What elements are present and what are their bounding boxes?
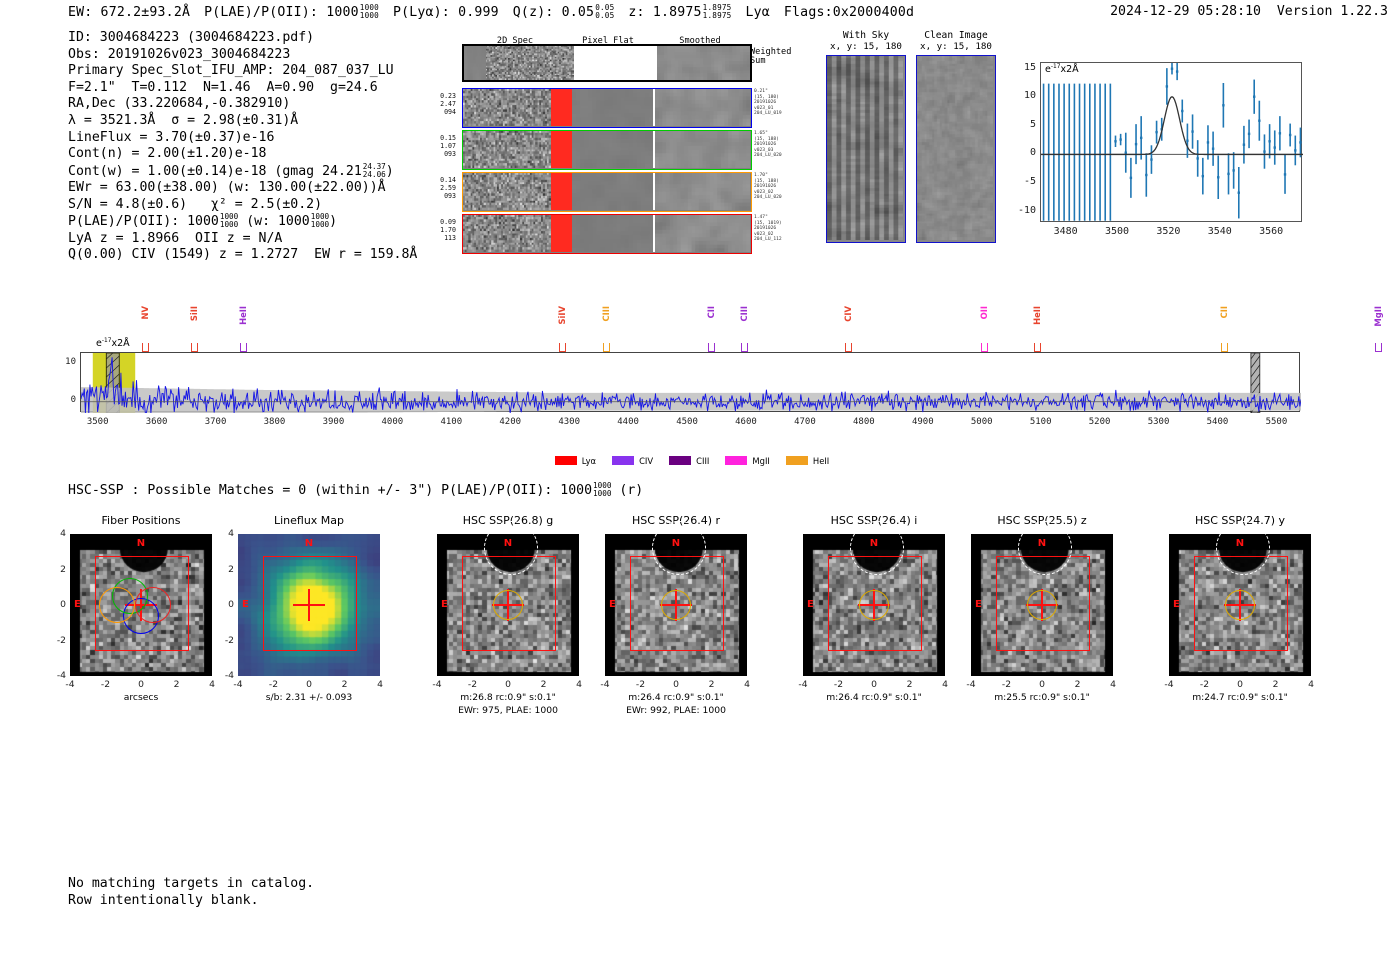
image-data	[463, 215, 551, 252]
x-tick: 4300	[547, 417, 591, 427]
x-tick: 3500	[76, 417, 120, 427]
legend-label: Lyα	[582, 456, 596, 466]
spec2d-row-meta: 1.47" (15, 1019) 20191026 v023_02 204_LU…	[754, 215, 782, 243]
thumb-x-tick: 2	[899, 679, 921, 690]
thumb-x-tick: -2	[95, 679, 117, 690]
y-tick: 0	[54, 395, 76, 405]
thumb-x-tick: 4	[1300, 679, 1322, 690]
x-tick: 3560	[1255, 226, 1287, 237]
image-data	[917, 56, 993, 240]
spec2d-row-meta: 0.21" (15, 180) 20191026 v023_01 204_LU_…	[754, 89, 782, 117]
header-redshift: z: 1.89751.89751.8975	[628, 5, 731, 20]
legend-item: Lyα	[555, 456, 596, 466]
legend-item: HeII	[786, 456, 829, 466]
spec2d-row-meta: 1.70" (15, 188) 20191026 v023_02 204_LU_…	[754, 173, 782, 201]
thumb-x-tick: 2	[166, 679, 188, 690]
x-tick: 3600	[135, 417, 179, 427]
emission-line-label: CII	[706, 306, 716, 318]
image-data	[486, 46, 574, 80]
x-tick: 4500	[665, 417, 709, 427]
thumb-x-tick: 0	[863, 679, 885, 690]
x-tick: 5500	[1254, 417, 1298, 427]
y-tick: 0	[1014, 147, 1036, 158]
legend-swatch	[725, 456, 747, 465]
legend-swatch	[669, 456, 691, 465]
thumb-y-tick: 4	[217, 528, 234, 539]
thumb-x-tick: 2	[533, 679, 555, 690]
thumb-x-tick: -4	[594, 679, 616, 690]
x-tick: 4100	[429, 417, 473, 427]
thumb-y-tick: 4	[49, 528, 66, 539]
x-tick: 3800	[252, 417, 296, 427]
spec2d-row	[462, 130, 752, 170]
x-tick: 5300	[1137, 417, 1181, 427]
emission-line-label: CII	[1219, 306, 1229, 318]
cutout-coords: x, y: 15, 180	[816, 41, 916, 52]
y-tick: -10	[1014, 205, 1036, 216]
image-data	[572, 173, 653, 210]
info-lineflux: LineFlux = 3.70(±0.37)e-16	[68, 130, 274, 145]
emission-line-tick	[1221, 343, 1228, 352]
image-data	[655, 173, 750, 210]
image-data	[463, 131, 551, 168]
info-radec: RA,Dec (33.220684,-0.382910)	[68, 96, 290, 111]
image-data	[655, 131, 750, 168]
fiber-circle	[99, 587, 135, 623]
image-data	[572, 131, 653, 168]
emission-line-tick	[1034, 343, 1041, 352]
neighbor-circle	[652, 521, 706, 575]
spec2d-row-stats: 0.23 2.47 094	[418, 92, 456, 116]
spec2d-row	[462, 172, 752, 212]
x-tick: 3500	[1101, 226, 1133, 237]
thumb-x-tick: 4	[369, 679, 391, 690]
image-data	[572, 215, 653, 252]
x-tick: 3900	[311, 417, 355, 427]
line-profile-series	[1041, 63, 1303, 223]
legend-label: HeII	[813, 456, 829, 466]
timestamp: 2024-12-29 05:28:10	[1110, 4, 1261, 19]
weighted-sum-label: Weighted Sum	[750, 48, 796, 66]
thumb-y-tick: 2	[217, 564, 234, 575]
neighbor-circle	[484, 521, 538, 575]
emission-line-tick	[845, 343, 852, 352]
thumb-y-tick: 0	[49, 599, 66, 610]
info-qline: Q(0.00) CIV (1549) z = 1.2727 EW r = 159…	[68, 247, 417, 262]
fiber-circle	[135, 587, 171, 623]
cutout-title: Clean Image	[906, 30, 1006, 41]
emission-line-tick	[1375, 343, 1382, 352]
thumb-y-tick: -4	[49, 670, 66, 681]
emission-line-label: MgII	[1373, 306, 1383, 327]
legend-item: CIV	[612, 456, 653, 466]
info-primary-spec: Primary Spec_Slot_IFU_AMP: 204_087_037_L…	[68, 63, 394, 78]
compass-east: E	[975, 599, 982, 610]
x-tick: 4000	[370, 417, 414, 427]
thumb-x-tick: 4	[934, 679, 956, 690]
neighbor-circle	[1216, 521, 1270, 575]
compass-east: E	[609, 599, 616, 610]
spec2d-row-meta: 1.65" (15, 188) 20191026 v023_03 204_LU_…	[754, 131, 782, 159]
emission-line-tick	[603, 343, 610, 352]
image-data	[572, 89, 653, 126]
object-info-block: ID: 3004684223 (3004684223.pdf) Obs: 201…	[68, 30, 417, 264]
info-cont-n: Cont(n) = 2.00(±1.20)e-18	[68, 146, 267, 161]
image-data	[655, 89, 750, 126]
thumbnail-caption: s/b: 2.31 +/- 0.093	[206, 692, 412, 704]
x-tick: 4700	[783, 417, 827, 427]
legend-label: MgII	[752, 456, 769, 466]
thumb-y-tick: -4	[217, 670, 234, 681]
image-data	[827, 56, 903, 240]
x-tick: 4800	[842, 417, 886, 427]
cutout-title: With Sky	[816, 30, 916, 41]
legend-swatch	[786, 456, 808, 465]
y-tick: 15	[1014, 62, 1036, 73]
emission-line-tick	[741, 343, 748, 352]
thumb-y-tick: -2	[49, 635, 66, 646]
spec2d-row	[462, 214, 752, 254]
info-params: F=2.1" T=0.112 N=1.46 A=0.90 g=24.6	[68, 80, 378, 95]
thumb-x-tick: 0	[130, 679, 152, 690]
emission-line-tick	[240, 343, 247, 352]
full-spectrum-series	[81, 353, 1301, 413]
legend-item: MgII	[725, 456, 769, 466]
hscssp-summary: HSC-SSP : Possible Matches = 0 (within +…	[68, 482, 643, 498]
aperture-circle	[661, 590, 691, 620]
x-tick: 5200	[1078, 417, 1122, 427]
cutout-image	[916, 55, 996, 243]
emission-line-label: SiII	[189, 306, 199, 321]
header-plya: P(Lyα): 0.999	[393, 5, 499, 20]
image-data	[463, 173, 551, 210]
thumbnail-caption: m:24.7 rc:0.9" s:0.1"	[1137, 692, 1343, 704]
cutout-image	[826, 55, 906, 243]
emission-line-tick	[559, 343, 566, 352]
x-tick: 4900	[901, 417, 945, 427]
thumb-x-tick: -4	[960, 679, 982, 690]
info-snr-chi2: S/N = 4.8(±0.6) χ² = 2.5(±0.2)	[68, 197, 322, 212]
x-tick: 5000	[960, 417, 1004, 427]
info-ewr: EWr = 63.00(±38.00) (w: 130.00(±22.00))Å	[68, 180, 386, 195]
y-tick: 10	[54, 357, 76, 367]
legend-label: CIII	[696, 456, 709, 466]
aperture-circle	[859, 590, 889, 620]
emission-line-tick	[142, 343, 149, 352]
y-tick: -5	[1014, 176, 1036, 187]
thumb-x-tick: 0	[1031, 679, 1053, 690]
image-data	[463, 89, 551, 126]
emission-line-label: HeII	[238, 306, 248, 325]
header-timestamp-version: 2024-12-29 05:28:10 Version 1.22.3	[1110, 4, 1388, 19]
x-tick: 4600	[724, 417, 768, 427]
emission-line-tick	[191, 343, 198, 352]
thumb-x-tick: 0	[497, 679, 519, 690]
thumb-x-tick: -4	[1158, 679, 1180, 690]
info-plae: P(LAE)/P(OII): 100010001000 (w: 10001000…	[68, 214, 337, 229]
header-qz: Q(z): 0.050.050.05	[513, 5, 615, 20]
x-tick: 3700	[194, 417, 238, 427]
info-id: ID: 3004684223 (3004684223.pdf)	[68, 30, 314, 45]
thumb-x-tick: 0	[298, 679, 320, 690]
thumb-y-tick: 0	[217, 599, 234, 610]
thumb-x-tick: 4	[1102, 679, 1124, 690]
legend-item: CIII	[669, 456, 709, 466]
spec2d-row-stats: 0.15 1.07 093	[418, 134, 456, 158]
compass-north: N	[305, 538, 313, 549]
thumb-x-tick: 2	[334, 679, 356, 690]
thumb-x-tick: -2	[263, 679, 285, 690]
thumb-x-tick: 2	[1265, 679, 1287, 690]
thumb-x-tick: 2	[701, 679, 723, 690]
thumbnail-caption-2: EWr: 992, PLAE: 1000	[573, 705, 779, 717]
thumb-x-tick: -2	[1194, 679, 1216, 690]
x-tick: 5400	[1195, 417, 1239, 427]
info-redshifts: LyA z = 1.8966 OII z = N/A	[68, 231, 282, 246]
emission-line-tick	[981, 343, 988, 352]
thumb-x-tick: -2	[630, 679, 652, 690]
thumb-x-tick: -4	[426, 679, 448, 690]
emission-line-tick	[708, 343, 715, 352]
footer-line1: No matching targets in catalog.	[68, 876, 314, 891]
flux-units-label: e-17x2Å	[1045, 64, 1079, 75]
info-lambda-sigma: λ = 3521.3Å σ = 2.98(±0.31)Å	[68, 113, 298, 128]
thumb-x-tick: -2	[462, 679, 484, 690]
compass-east: E	[242, 599, 249, 610]
version: Version 1.22.3	[1277, 4, 1388, 19]
line-profile-axes	[1040, 62, 1302, 222]
thumb-y-tick: 2	[49, 564, 66, 575]
aperture-circle	[1225, 590, 1255, 620]
x-tick: 4400	[606, 417, 650, 427]
crosshair	[308, 589, 309, 621]
legend-swatch	[555, 456, 577, 465]
full-spectrum-axes	[80, 352, 1300, 412]
x-tick: 3540	[1204, 226, 1236, 237]
image-data	[655, 215, 750, 252]
cutout-coords: x, y: 15, 180	[906, 41, 1006, 52]
emission-line-label: CIII	[601, 306, 611, 322]
spec2d-row	[462, 88, 752, 128]
header-line-name: Lyα	[745, 5, 769, 20]
thumbnail-title: Lineflux Map	[212, 514, 406, 527]
header-flags: Flags:0x2000400d	[784, 5, 914, 20]
thumb-x-tick: -4	[792, 679, 814, 690]
header-summary: EW: 672.2±93.2ÅP(LAE)/P(OII): 1000100010…	[68, 4, 928, 20]
spec2d-row-stats: 0.14 2.59 093	[418, 176, 456, 200]
compass-east: E	[441, 599, 448, 610]
header-ew: EW: 672.2±93.2Å	[68, 5, 190, 20]
emission-line-label: OII	[979, 306, 989, 319]
image-data	[657, 46, 751, 80]
image-data	[464, 46, 486, 80]
thumb-x-tick: -2	[996, 679, 1018, 690]
x-tick: 4200	[488, 417, 532, 427]
thumb-x-tick: 0	[665, 679, 687, 690]
header-plae: P(LAE)/P(OII): 100010001000	[204, 5, 379, 20]
spec2d-row-stats: 0.09 1.70 113	[418, 218, 456, 242]
compass-east: E	[74, 599, 81, 610]
neighbor-circle	[850, 521, 904, 575]
thumb-x-tick: 4	[568, 679, 590, 690]
emission-line-label: CIII	[739, 306, 749, 322]
compass-east: E	[807, 599, 814, 610]
emission-line-label: SiIV	[557, 306, 567, 325]
footer-note: No matching targets in catalog. Row inte…	[68, 875, 314, 909]
weighted-sum-row	[462, 44, 752, 82]
legend-label: CIV	[639, 456, 653, 466]
spectrum-legend: LyαCIVCIIIMgIIHeII	[0, 450, 1400, 469]
compass-north: N	[137, 538, 145, 549]
aperture-circle	[493, 590, 523, 620]
thumbnail-caption: m:25.5 rc:0.9" s:0.1"	[939, 692, 1145, 704]
thumb-x-tick: 2	[1067, 679, 1089, 690]
thumb-x-tick: -2	[828, 679, 850, 690]
flux-units-label: e-17x2Å	[96, 338, 130, 349]
neighbor-circle	[1018, 521, 1072, 575]
thumb-x-tick: 0	[1229, 679, 1251, 690]
legend-swatch	[612, 456, 634, 465]
thumbnail-title: Fiber Positions	[44, 514, 238, 527]
x-tick: 3520	[1152, 226, 1184, 237]
info-cont-w: Cont(w) = 1.00(±0.14)e-18 (gmag 24.2124.…	[68, 164, 394, 179]
thumb-y-tick: -2	[217, 635, 234, 646]
x-tick: 5100	[1019, 417, 1063, 427]
footer-line2: Row intentionally blank.	[68, 893, 259, 908]
info-obs: Obs: 20191026v023_3004684223	[68, 47, 290, 62]
thumbnail-caption: m:26.4 rc:0.9" s:0.1"	[573, 692, 779, 704]
emission-line-label: NV	[140, 306, 150, 320]
compass-east: E	[1173, 599, 1180, 610]
thumb-x-tick: 4	[736, 679, 758, 690]
emission-line-label: HeII	[1032, 306, 1042, 325]
emission-line-label: CIV	[843, 306, 853, 322]
aperture-circle	[1027, 590, 1057, 620]
y-tick: 10	[1014, 90, 1036, 101]
x-tick: 3480	[1050, 226, 1082, 237]
y-tick: 5	[1014, 119, 1036, 130]
